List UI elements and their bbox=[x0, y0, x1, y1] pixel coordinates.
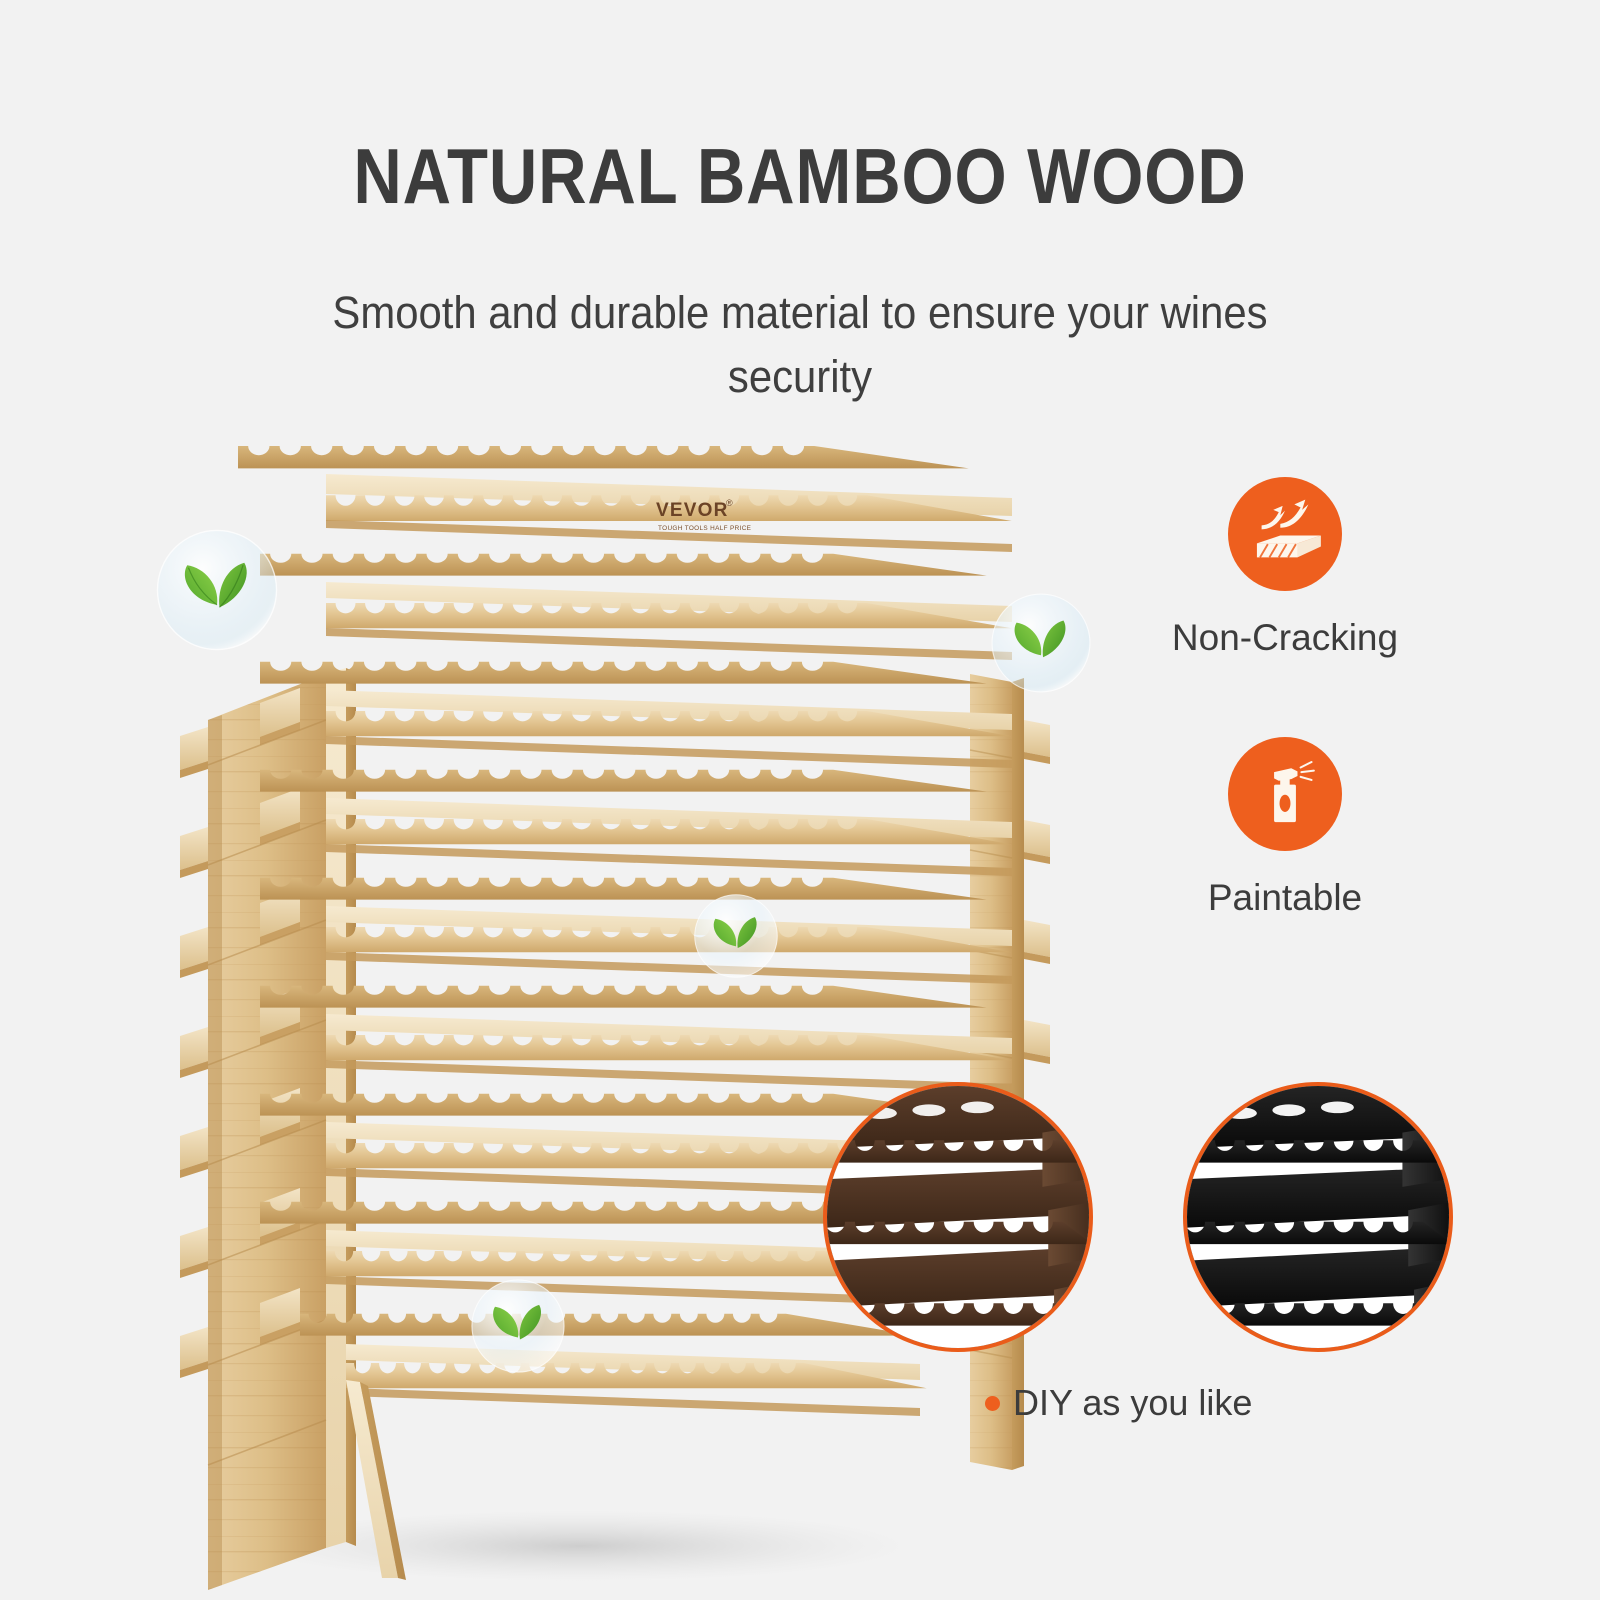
inset-black-finish bbox=[1183, 1082, 1453, 1352]
feature-label: Paintable bbox=[1135, 877, 1435, 919]
diy-label: DIY as you like bbox=[1013, 1382, 1252, 1424]
right-side-panel bbox=[970, 674, 1050, 1470]
leaf-bubble-center bbox=[693, 893, 779, 979]
product-image-bamboo-wine-rack: VEVOR ® TOUGH TOOLS HALF PRICE bbox=[150, 420, 1070, 1600]
vevor-tagline: TOUGH TOOLS HALF PRICE bbox=[658, 525, 751, 532]
feature-icon-disc bbox=[1228, 477, 1342, 591]
page-headline: NATURAL BAMBOO WOOD bbox=[112, 131, 1488, 222]
feature-paintable: Paintable bbox=[1135, 737, 1435, 919]
shelf-level-9 bbox=[300, 1306, 927, 1416]
leaf-bubble-right bbox=[990, 592, 1092, 694]
shelf-level-2 bbox=[260, 546, 1012, 660]
shelf-level-6 bbox=[260, 978, 1012, 1092]
page-subheadline: Smooth and durable material to ensure yo… bbox=[270, 281, 1330, 409]
plank-arrows-icon bbox=[1246, 495, 1324, 573]
shelf-level-4 bbox=[260, 762, 1012, 876]
feature-label: Non-Cracking bbox=[1135, 617, 1435, 659]
shelf-level-3 bbox=[260, 654, 1012, 768]
spray-bottle-icon bbox=[1246, 755, 1324, 833]
leaf-bubble-bottom-left bbox=[470, 1278, 566, 1374]
leaf-bubble-left bbox=[155, 528, 279, 652]
diy-caption: DIY as you like bbox=[985, 1382, 1252, 1424]
vevor-wordmark: VEVOR bbox=[656, 500, 729, 521]
feature-icon-disc bbox=[1228, 737, 1342, 851]
left-panel-tenons bbox=[180, 727, 208, 1378]
inset-dark-walnut-finish bbox=[823, 1082, 1093, 1352]
vevor-registered-mark: ® bbox=[726, 498, 733, 508]
shelf-level-1 bbox=[238, 438, 1012, 552]
feature-non-cracking: Non-Cracking bbox=[1135, 477, 1435, 659]
shelf-level-5 bbox=[260, 870, 1012, 984]
bullet-icon bbox=[985, 1396, 1000, 1411]
